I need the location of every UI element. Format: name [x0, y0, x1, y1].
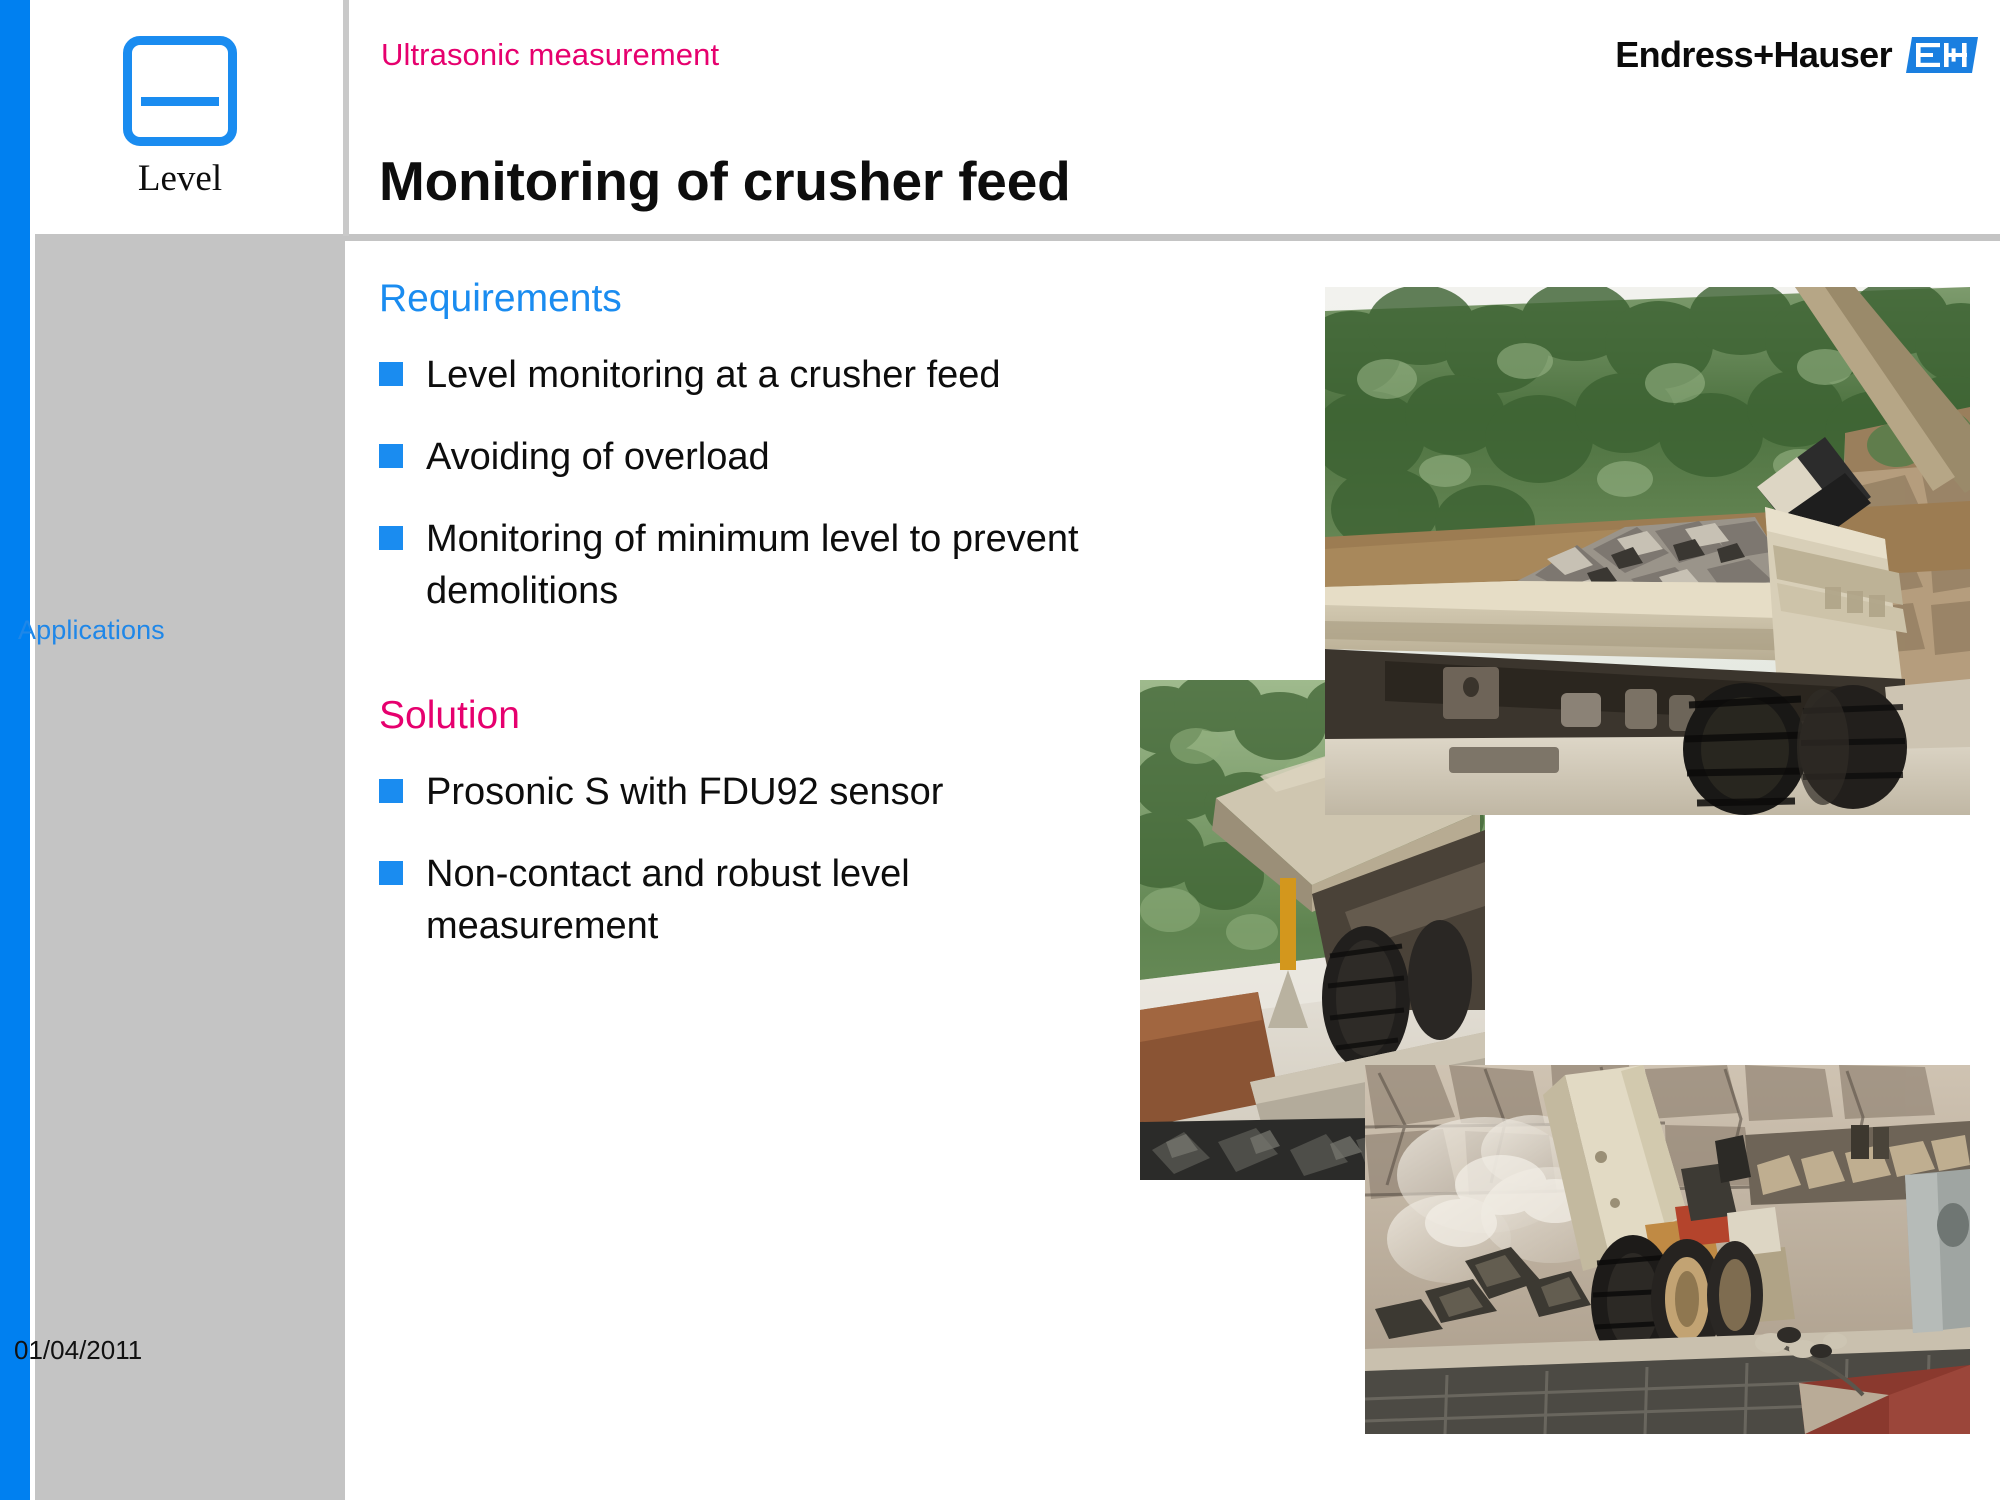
- bullet-square-icon: [379, 362, 403, 386]
- list-item: Prosonic S with FDU92 sensor: [379, 766, 1119, 818]
- sidebar-panel: [35, 238, 345, 1500]
- brand-wordmark: Endress+Hauser: [1615, 34, 1892, 76]
- brand-logo: Endress+Hauser: [1615, 34, 1978, 76]
- list-item-label: Level monitoring at a crusher feed: [426, 349, 1001, 401]
- page-title: Monitoring of crusher feed: [379, 149, 1071, 213]
- list-item-label: Prosonic S with FDU92 sensor: [426, 766, 943, 818]
- header-horizontal-rule: [35, 234, 2000, 241]
- left-accent-bar: [0, 0, 30, 1500]
- list-item: Non-contact and robust level measurement: [379, 848, 1119, 952]
- solution-list: Prosonic S with FDU92 sensor Non-contact…: [379, 766, 1119, 952]
- list-item-label: Avoiding of overload: [426, 431, 770, 483]
- sidebar-section-label: Applications: [18, 615, 165, 646]
- list-item: Monitoring of minimum level to prevent d…: [379, 513, 1119, 617]
- endress-hauser-eh-monogram-icon: [1906, 35, 1978, 75]
- bullet-square-icon: [379, 779, 403, 803]
- category-icon-block: Level: [100, 36, 260, 197]
- bullet-square-icon: [379, 526, 403, 550]
- list-item: Avoiding of overload: [379, 431, 1119, 483]
- slide-kicker: Ultrasonic measurement: [381, 37, 719, 73]
- solution-heading: Solution: [379, 695, 1119, 738]
- photo-truck-discharging-into-crusher-hopper: [1365, 1065, 1970, 1434]
- category-icon-label: Level: [100, 160, 260, 197]
- list-item: Level monitoring at a crusher feed: [379, 349, 1119, 401]
- requirements-block: Requirements Level monitoring at a crush…: [379, 278, 1119, 617]
- list-item-label: Non-contact and robust level measurement: [426, 848, 1116, 952]
- requirements-list: Level monitoring at a crusher feed Avoid…: [379, 349, 1119, 617]
- list-item-label: Monitoring of minimum level to prevent d…: [426, 513, 1116, 617]
- requirements-heading: Requirements: [379, 278, 1119, 321]
- photo-quarry-dump-truck-loaded-with-rock: [1325, 287, 1970, 815]
- solution-block: Solution Prosonic S with FDU92 sensor No…: [379, 695, 1119, 952]
- slide-date: 01/04/2011: [14, 1335, 142, 1366]
- level-gauge-icon: [123, 36, 237, 146]
- content-column: Requirements Level monitoring at a crush…: [379, 278, 1119, 982]
- header-vertical-divider: [343, 0, 349, 236]
- bullet-square-icon: [379, 861, 403, 885]
- bullet-square-icon: [379, 444, 403, 468]
